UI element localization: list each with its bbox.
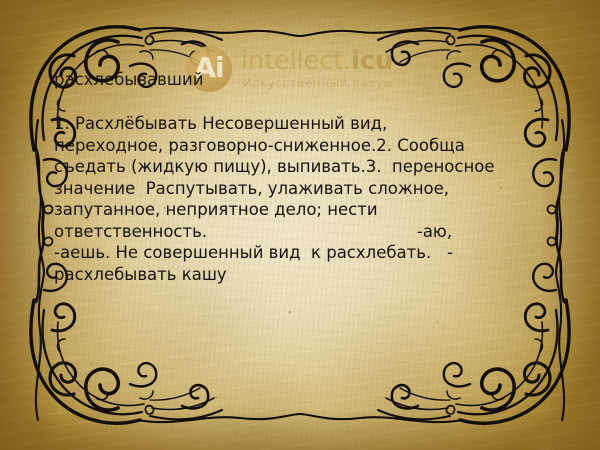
headword: расхлебывавший	[54, 70, 203, 89]
definition-text: 1. Расхлёбывать Несовершенный вид, перех…	[54, 113, 524, 285]
parchment-page: Ai intellect.icu Искусственный разум рас…	[0, 0, 600, 450]
